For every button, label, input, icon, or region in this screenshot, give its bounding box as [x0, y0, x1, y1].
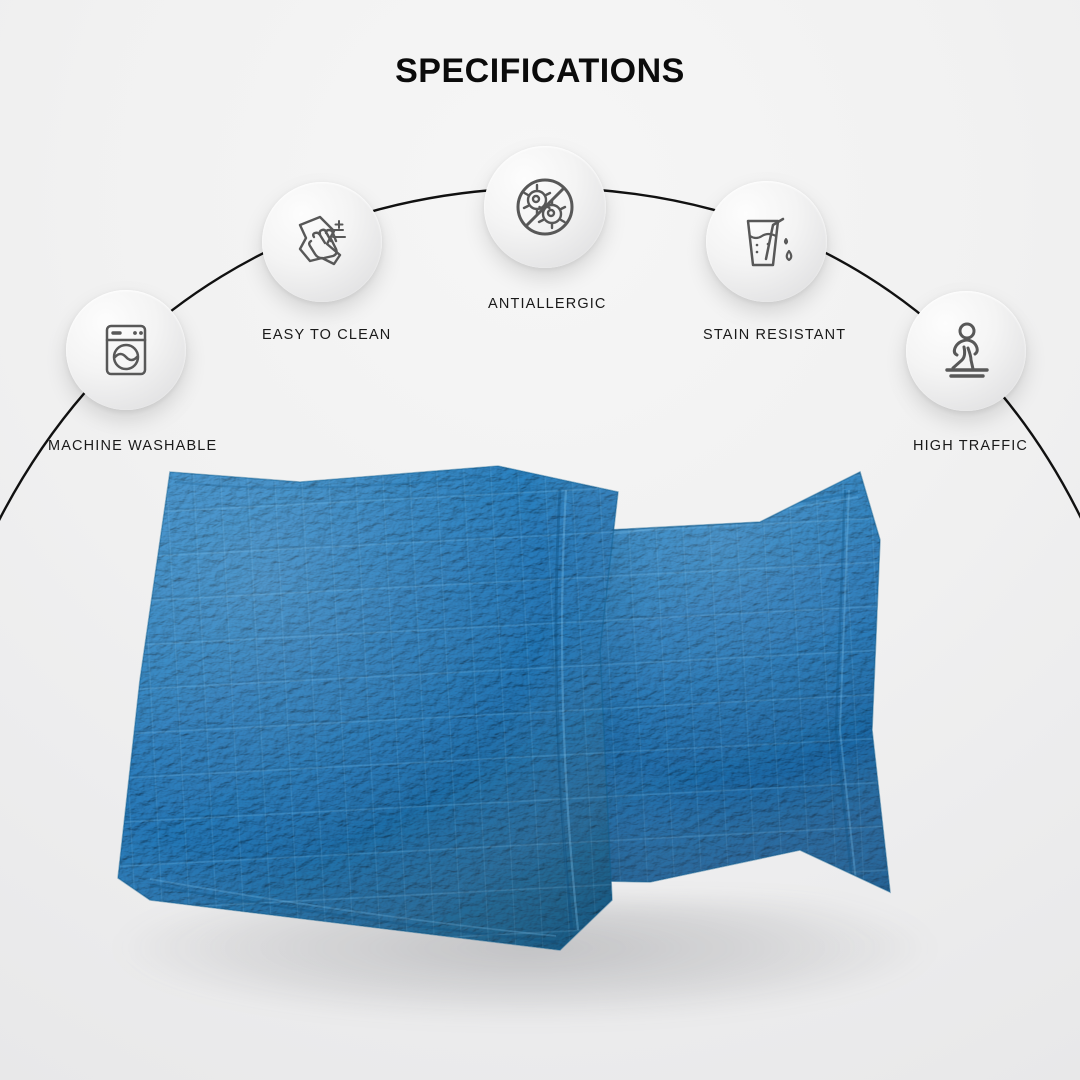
- spec-label-antiallergic: ANTIALLERGIC: [488, 296, 607, 312]
- spec-label-stain-resistant: STAIN RESISTANT: [703, 327, 846, 343]
- front-cushion: [100, 450, 640, 970]
- hand-wiping-cloth-icon: [290, 211, 354, 273]
- walking-person-floor-icon: [934, 320, 998, 382]
- spec-badge-easy-to-clean[interactable]: [262, 182, 382, 302]
- spec-badge-high-traffic[interactable]: [906, 291, 1026, 411]
- spec-badge-antiallergic[interactable]: [484, 146, 606, 268]
- spec-label-easy-to-clean: EASY TO CLEAN: [262, 327, 391, 343]
- no-allergen-crossed-circle-icon: [511, 173, 579, 241]
- spec-badge-stain-resistant[interactable]: [706, 181, 827, 302]
- spec-badge-machine-washable[interactable]: [66, 290, 186, 410]
- page-title: SPECIFICATIONS: [0, 52, 1080, 91]
- washing-machine-icon: [95, 319, 157, 381]
- glass-with-straw-droplet-icon: [735, 211, 799, 273]
- product-image-cushion-covers: [0, 430, 1080, 1080]
- specifications-infographic: SPECIFICATIONS MACHINE WASHABLE: [0, 0, 1080, 1080]
